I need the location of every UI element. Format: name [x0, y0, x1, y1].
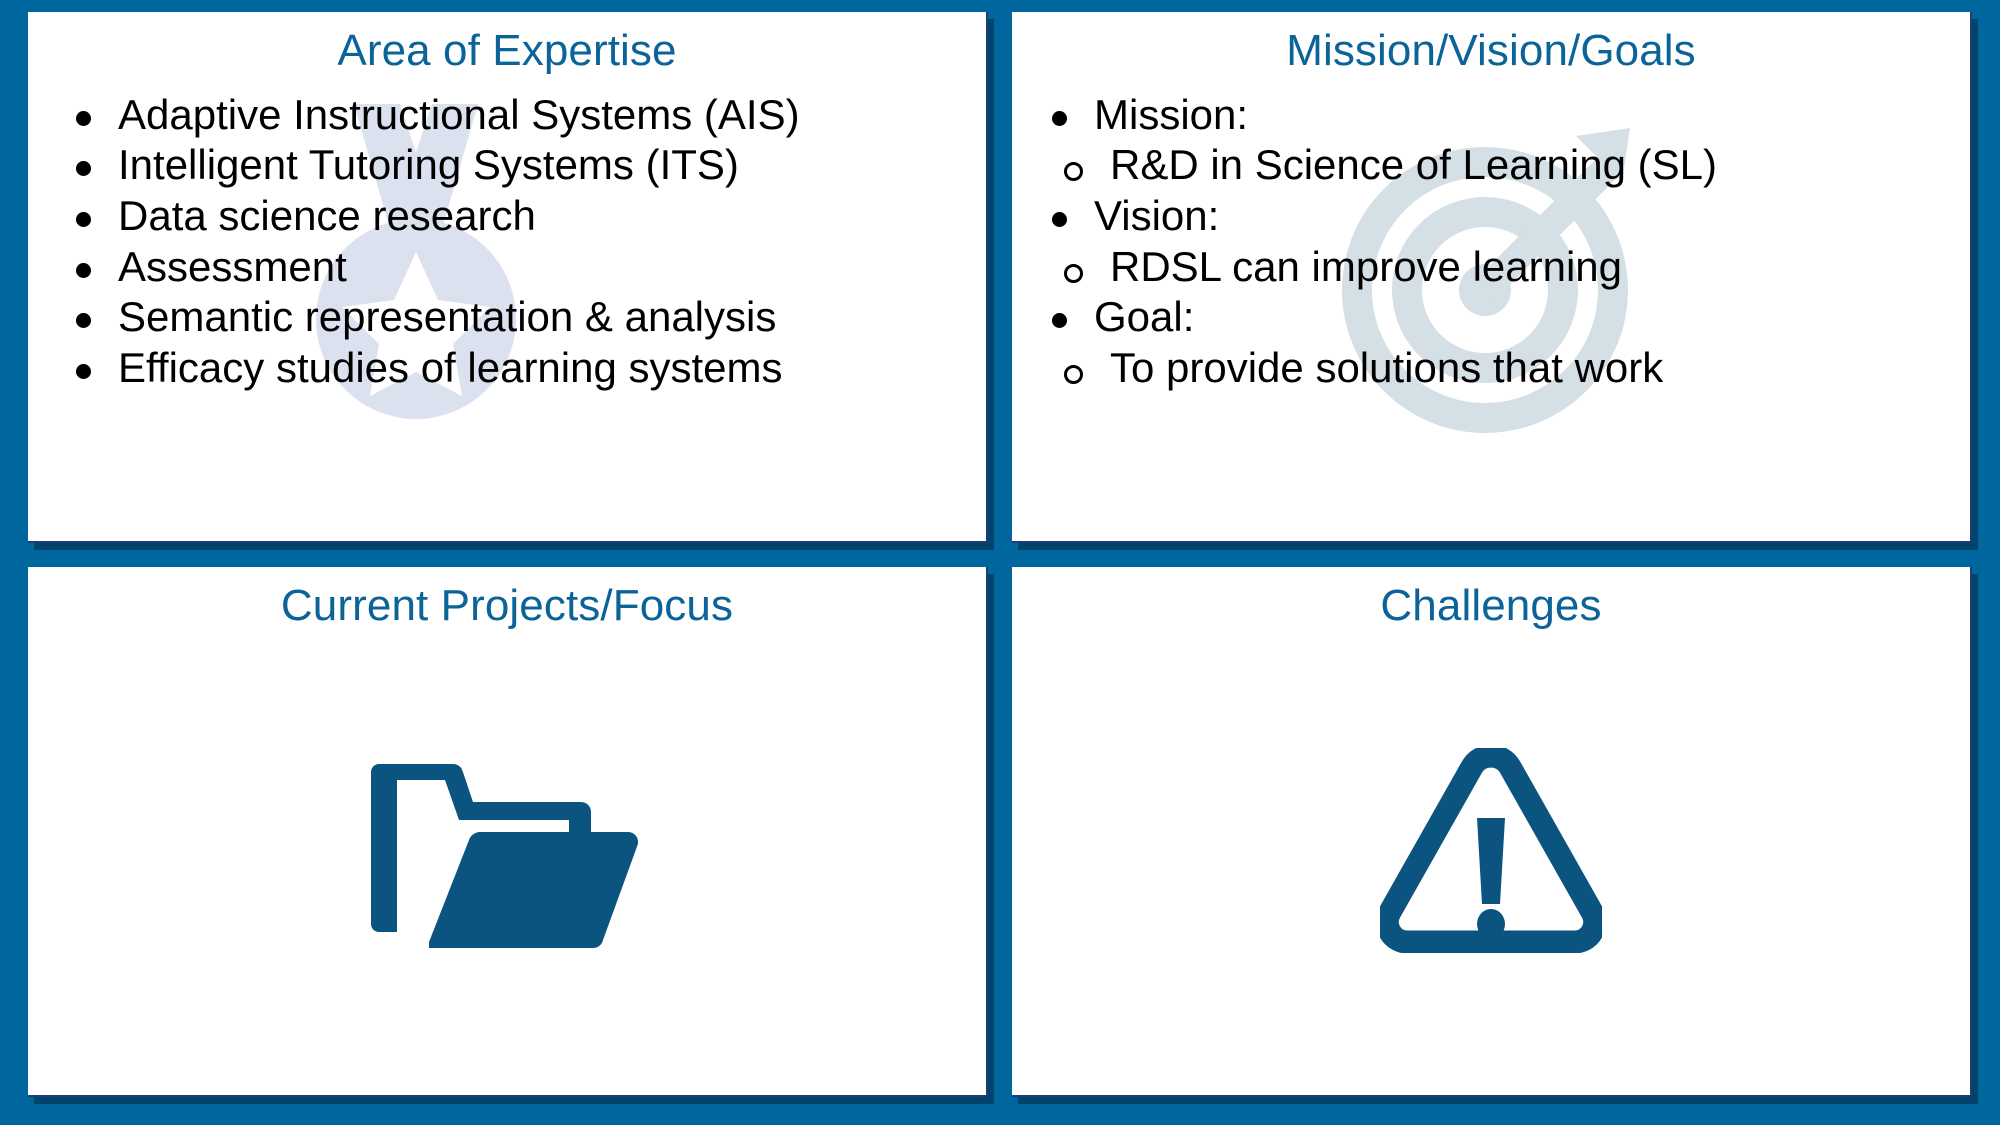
sub-list: R&D in Science of Learning (SL)	[1038, 141, 1944, 189]
sub-list: To provide solutions that work	[1038, 344, 1944, 392]
page-title-area-of-expertise: Area of Expertise	[54, 26, 960, 77]
panel-body: Current Projects/Focus	[28, 567, 986, 1096]
panel-current-projects-focus[interactable]: Current Projects/Focus	[28, 567, 988, 1098]
sub-list: RDSL can improve learning	[1038, 243, 1944, 291]
list-item: Intelligent Tutoring Systems (ITS)	[54, 141, 960, 189]
list-item: Mission:	[1038, 91, 1944, 139]
sub-list-item: R&D in Science of Learning (SL)	[1038, 141, 1944, 189]
panel-area-of-expertise[interactable]: Area of Expertise Adaptive Instructional…	[28, 12, 988, 543]
expertise-list: Adaptive Instructional Systems (AIS) Int…	[54, 91, 960, 392]
warning-triangle-exclamation-icon	[1380, 748, 1602, 953]
page-title-current-projects: Current Projects/Focus	[54, 581, 960, 632]
list-item: Efficacy studies of learning systems	[54, 344, 960, 392]
icon-stage	[54, 637, 960, 1064]
slide-canvas: Area of Expertise Adaptive Instructional…	[0, 0, 2000, 1125]
quadrant-grid: Area of Expertise Adaptive Instructional…	[0, 0, 2000, 1125]
sub-list-item: RDSL can improve learning	[1038, 243, 1944, 291]
page-title-challenges: Challenges	[1038, 581, 1944, 632]
panel-challenges[interactable]: Challenges	[1012, 567, 1972, 1098]
list-item: Semantic representation & analysis	[54, 293, 960, 341]
panel-mission-vision-goals[interactable]: Mission/Vision/Goals Mission: R&D in Sci…	[1012, 12, 1972, 543]
page-title-mission-vision-goals: Mission/Vision/Goals	[1038, 26, 1944, 77]
list-item: Vision:	[1038, 192, 1944, 240]
sub-list-item: To provide solutions that work	[1038, 344, 1944, 392]
panel-body: Challenges	[1012, 567, 1970, 1096]
icon-stage	[1038, 637, 1944, 1064]
panel-body: Area of Expertise Adaptive Instructional…	[28, 12, 986, 541]
mission-vision-goals-list: Mission: R&D in Science of Learning (SL)…	[1038, 91, 1944, 392]
list-item: Data science research	[54, 192, 960, 240]
panel-body: Mission/Vision/Goals Mission: R&D in Sci…	[1012, 12, 1970, 541]
list-item: Adaptive Instructional Systems (AIS)	[54, 91, 960, 139]
open-folder-icon	[371, 750, 643, 950]
list-item: Goal:	[1038, 293, 1944, 341]
list-item: Assessment	[54, 243, 960, 291]
